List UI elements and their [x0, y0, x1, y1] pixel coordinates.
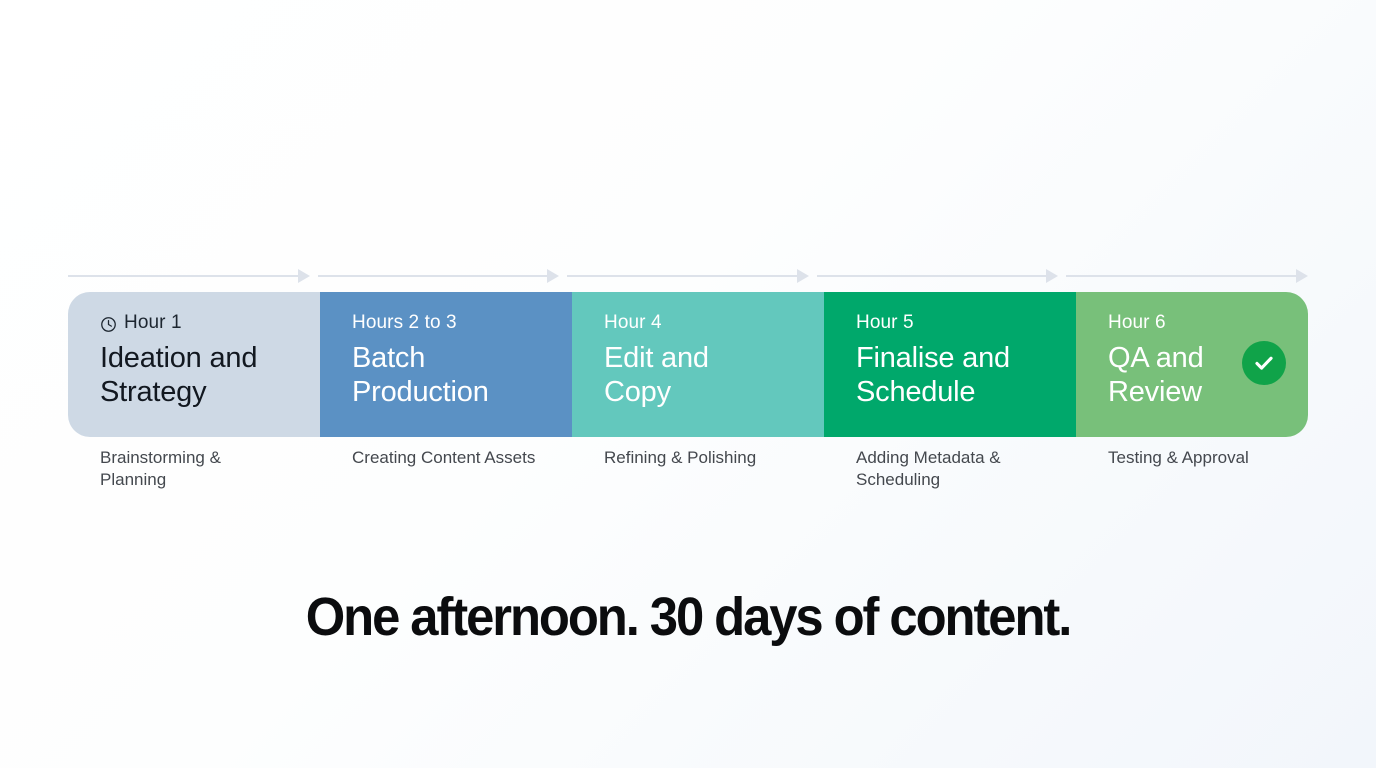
step-hour-label: Hour 1 [124, 312, 182, 334]
timeline-connector-2 [318, 266, 560, 286]
step-hour-label: Hour 4 [604, 312, 662, 334]
step-hour-row: Hours 2 to 3 [352, 312, 584, 334]
timeline-step-card-2[interactable]: Hours 2 to 3Batch Production [320, 292, 610, 437]
connector-line [817, 275, 1048, 277]
timeline-connector-5 [1066, 266, 1308, 286]
arrow-right-icon [797, 269, 809, 283]
infographic-canvas: Hour 6QA and ReviewHour 5Finalise and Sc… [0, 0, 1376, 768]
timeline-arrow-rail [68, 266, 1308, 286]
arrow-right-icon [547, 269, 559, 283]
connector-line [68, 275, 299, 277]
step-title: Ideation and Strategy [100, 341, 332, 409]
timeline-connector-1 [68, 266, 310, 286]
timeline-step-card-1[interactable]: Hour 1Ideation and Strategy [68, 292, 358, 437]
headline: One afternoon. 30 days of content. [41, 586, 1334, 648]
step-caption-3: Refining & Polishing [604, 447, 846, 469]
connector-line [1066, 275, 1297, 277]
timeline-connector-4 [817, 266, 1059, 286]
connector-line [567, 275, 798, 277]
timeline-step-card-4[interactable]: Hour 5Finalise and Schedule [824, 292, 1114, 437]
step-hour-label: Hour 5 [856, 312, 914, 334]
step-hour-label: Hour 6 [1108, 312, 1166, 334]
step-hour-row: Hour 4 [604, 312, 836, 334]
timeline-caption-row: Brainstorming & PlanningCreating Content… [68, 447, 1320, 507]
arrow-right-icon [1046, 269, 1058, 283]
step-hour-label: Hours 2 to 3 [352, 312, 457, 334]
arrow-right-icon [298, 269, 310, 283]
arrow-right-icon [1296, 269, 1308, 283]
step-caption-2: Creating Content Assets [352, 447, 594, 469]
step-caption-1: Brainstorming & Planning [100, 447, 342, 491]
timeline-step-card-3[interactable]: Hour 4Edit and Copy [572, 292, 862, 437]
step-caption-5: Testing & Approval [1108, 447, 1350, 469]
step-caption-4: Adding Metadata & Scheduling [856, 447, 1098, 491]
timeline-connector-3 [567, 266, 809, 286]
connector-line [318, 275, 549, 277]
step-hour-row: Hour 1 [100, 312, 332, 334]
step-title: Finalise and Schedule [856, 341, 1088, 409]
step-hour-row: Hour 5 [856, 312, 1088, 334]
timeline-step-chain: Hour 6QA and ReviewHour 5Finalise and Sc… [68, 292, 1308, 437]
step-hour-row: Hour 6 [1108, 312, 1282, 334]
step-title: Edit and Copy [604, 341, 836, 409]
check-circle-icon [1242, 341, 1286, 385]
step-title: Batch Production [352, 341, 584, 409]
clock-icon [100, 316, 117, 333]
timeline-step-card-5[interactable]: Hour 6QA and Review [1076, 292, 1308, 437]
